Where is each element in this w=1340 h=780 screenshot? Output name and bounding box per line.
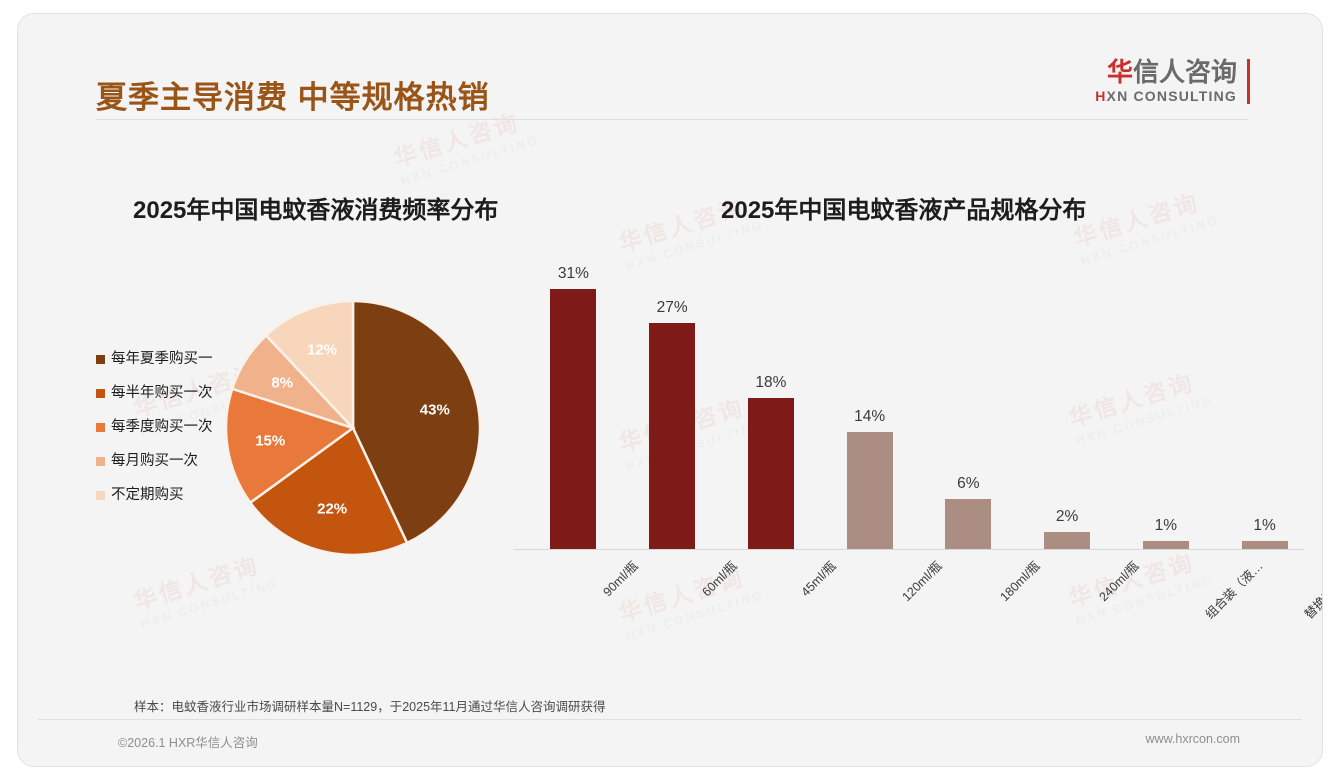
bar-column[interactable]: 1% — [1242, 264, 1288, 549]
watermark-en: HXN CONSULTING — [1079, 213, 1220, 268]
bar-column[interactable]: 1% — [1143, 264, 1189, 549]
pie-legend-item[interactable]: 每半年购买一次 — [96, 384, 213, 418]
bar-rect[interactable] — [847, 432, 893, 549]
footer-divider — [38, 719, 1302, 720]
bar-value-label: 14% — [854, 408, 885, 426]
bar-plot-area: 31%27%18%14%6%2%1%1% — [514, 264, 1304, 549]
legend-item-label: 每年夏季购买一 — [111, 350, 213, 368]
legend-color-swatch — [96, 355, 105, 364]
bar-rect[interactable] — [748, 398, 794, 549]
pie-legend-item[interactable]: 每季度购买一次 — [96, 418, 213, 452]
legend-color-swatch — [96, 457, 105, 466]
bar-column[interactable]: 6% — [945, 264, 991, 549]
legend-color-swatch — [96, 491, 105, 500]
watermark-en: HXN CONSULTING — [139, 576, 280, 631]
watermark-cn: 华信人咨询 — [1069, 179, 1216, 253]
bar-value-label: 6% — [957, 475, 979, 493]
header-divider — [96, 119, 1248, 120]
bar-value-label: 2% — [1056, 508, 1078, 526]
pie-legend-item[interactable]: 每年夏季购买一 — [96, 350, 213, 384]
bar-column[interactable]: 18% — [748, 264, 794, 549]
logo-cn-red: 华 — [1107, 57, 1133, 87]
bar-chart: 31%27%18%14%6%2%1%1% 90ml/瓶60ml/瓶45ml/瓶1… — [514, 264, 1304, 624]
watermark-en: HXN CONSULTING — [399, 133, 540, 188]
bar-column[interactable]: 14% — [847, 264, 893, 549]
logo-english: HXN CONSULTING — [1095, 88, 1237, 104]
bar-value-label: 31% — [558, 265, 589, 283]
bar-x-tick-label: 60ml/瓶 — [697, 556, 741, 600]
bar-x-tick-label: 45ml/瓶 — [795, 556, 839, 600]
pie-legend: 每年夏季购买一每半年购买一次每季度购买一次每月购买一次不定期购买 — [96, 350, 213, 520]
bar-value-label: 1% — [1155, 517, 1177, 535]
pie-slice-value: 43% — [420, 401, 450, 418]
logo-chinese: 华信人咨询 — [1095, 59, 1237, 86]
bar-rect[interactable] — [1143, 541, 1189, 549]
logo-en-red: H — [1095, 88, 1106, 104]
pie-chart-title: 2025年中国电蚊香液消费频率分布 — [133, 190, 498, 225]
pie-legend-item[interactable]: 不定期购买 — [96, 486, 213, 520]
company-logo: 华信人咨询 HXN CONSULTING — [1095, 59, 1250, 104]
pie-slice-value: 15% — [255, 433, 285, 450]
bar-rect[interactable] — [550, 289, 596, 549]
legend-color-swatch — [96, 389, 105, 398]
bar-rect[interactable] — [1044, 532, 1090, 549]
pie-slice-value: 8% — [271, 375, 293, 392]
watermark: 华信人咨询 HXN CONSULTING — [1069, 179, 1221, 268]
website-link[interactable]: www.hxrcon.com — [1146, 732, 1240, 746]
bar-x-tick-label: 90ml/瓶 — [598, 556, 642, 600]
pie-legend-item[interactable]: 每月购买一次 — [96, 452, 213, 486]
copyright-text: ©2026.1 HXR华信人咨询 — [118, 732, 258, 751]
slide-canvas: 华信人咨询 HXN CONSULTING 华信人咨询 HXN CONSULTIN… — [18, 14, 1322, 766]
pie-chart-svg — [224, 299, 482, 557]
bar-rect[interactable] — [1242, 541, 1288, 549]
pie-slice-value: 12% — [307, 342, 337, 359]
source-note: 样本：电蚊香液行业市场调研样本量N=1129，于2025年11月通过华信人咨询调… — [134, 696, 606, 715]
bar-rect[interactable] — [649, 323, 695, 549]
pie-slice-value: 22% — [317, 501, 347, 518]
logo-cn-gray: 信人咨询 — [1133, 57, 1237, 87]
bar-axis-line — [514, 549, 1304, 550]
pie-chart: 43%22%15%8%12% — [224, 299, 482, 557]
bar-x-tick-label: 120ml/瓶 — [896, 556, 945, 605]
bar-value-label: 1% — [1253, 517, 1275, 535]
legend-item-label: 每半年购买一次 — [111, 384, 213, 402]
bar-x-tick-label: 组合装（液… — [1200, 556, 1266, 622]
bar-x-tick-label: 替换装（仅… — [1299, 556, 1322, 622]
bar-x-tick-label: 240ml/瓶 — [1094, 556, 1143, 605]
logo-en-gray: XN CONSULTING — [1107, 88, 1237, 104]
bar-value-label: 18% — [755, 374, 786, 392]
legend-item-label: 不定期购买 — [111, 486, 184, 504]
bar-chart-title: 2025年中国电蚊香液产品规格分布 — [721, 190, 1086, 225]
bar-x-tick-label: 180ml/瓶 — [995, 556, 1044, 605]
legend-item-label: 每季度购买一次 — [111, 418, 213, 436]
bar-column[interactable]: 27% — [649, 264, 695, 549]
bar-column[interactable]: 2% — [1044, 264, 1090, 549]
legend-item-label: 每月购买一次 — [111, 452, 198, 470]
bar-value-label: 27% — [657, 299, 688, 317]
bar-rect[interactable] — [945, 499, 991, 549]
bar-column[interactable]: 31% — [550, 264, 596, 549]
legend-color-swatch — [96, 423, 105, 432]
page-title: 夏季主导消费 中等规格热销 — [96, 72, 490, 117]
